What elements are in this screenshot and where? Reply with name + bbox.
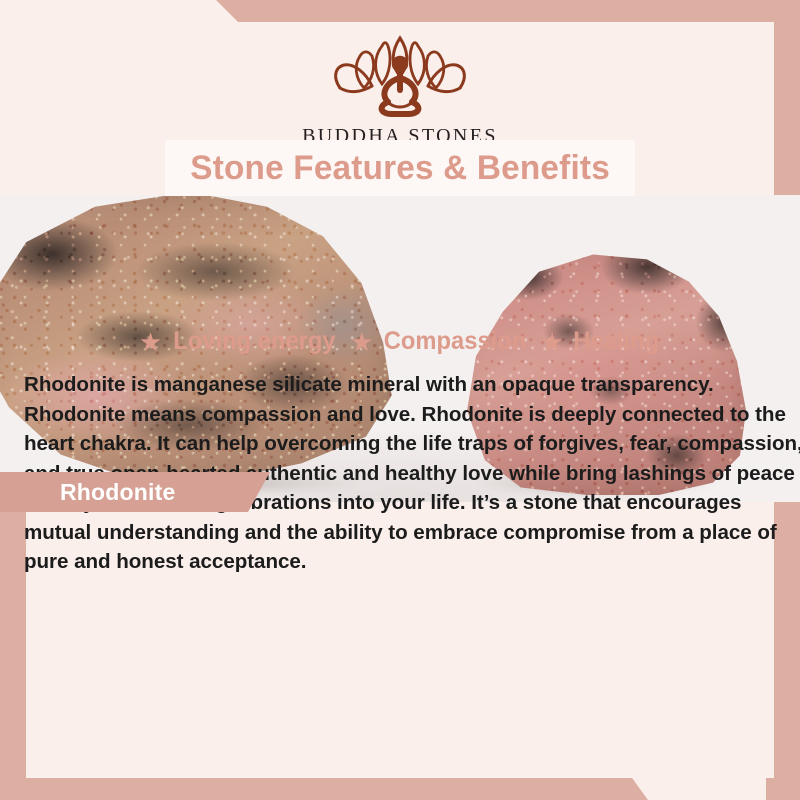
benefit-label: Loving energy bbox=[174, 327, 336, 356]
benefit-item-2: ★ Healing bbox=[540, 327, 661, 356]
benefit-item-1: ★ Compassion bbox=[350, 327, 530, 356]
star-icon: ★ bbox=[540, 329, 563, 355]
stone-name-badge: Rhodonite bbox=[0, 472, 270, 512]
star-icon: ★ bbox=[139, 329, 162, 355]
content-card: BUDDHA STONES Stone Features & Benefits … bbox=[26, 22, 774, 778]
description-line: heart chakra. It can help overcoming the… bbox=[24, 429, 782, 459]
description-line: Rhodonite is manganese silicate mineral … bbox=[24, 370, 782, 400]
stone-name-label: Rhodonite bbox=[60, 479, 176, 506]
brand-logo: BUDDHA STONES bbox=[26, 22, 774, 150]
description-line: pure and honest acceptance. bbox=[24, 547, 782, 577]
benefit-label: Compassion bbox=[384, 327, 527, 356]
description-line: mutual understanding and the ability to … bbox=[24, 518, 782, 548]
infographic-page: BUDDHA STONES Stone Features & Benefits … bbox=[0, 0, 800, 800]
benefit-label: Healing bbox=[573, 327, 659, 356]
star-icon: ★ bbox=[350, 329, 373, 355]
page-title: Stone Features & Benefits bbox=[190, 149, 610, 188]
benefits-row: ★ Loving energy ★ Compassion ★ Healing bbox=[26, 327, 774, 356]
benefit-item-0: ★ Loving energy bbox=[139, 327, 340, 356]
title-banner: Stone Features & Benefits bbox=[165, 140, 635, 196]
lotus-meditation-icon bbox=[310, 32, 490, 123]
description-line: Rhodonite means compassion and love. Rho… bbox=[24, 400, 782, 430]
